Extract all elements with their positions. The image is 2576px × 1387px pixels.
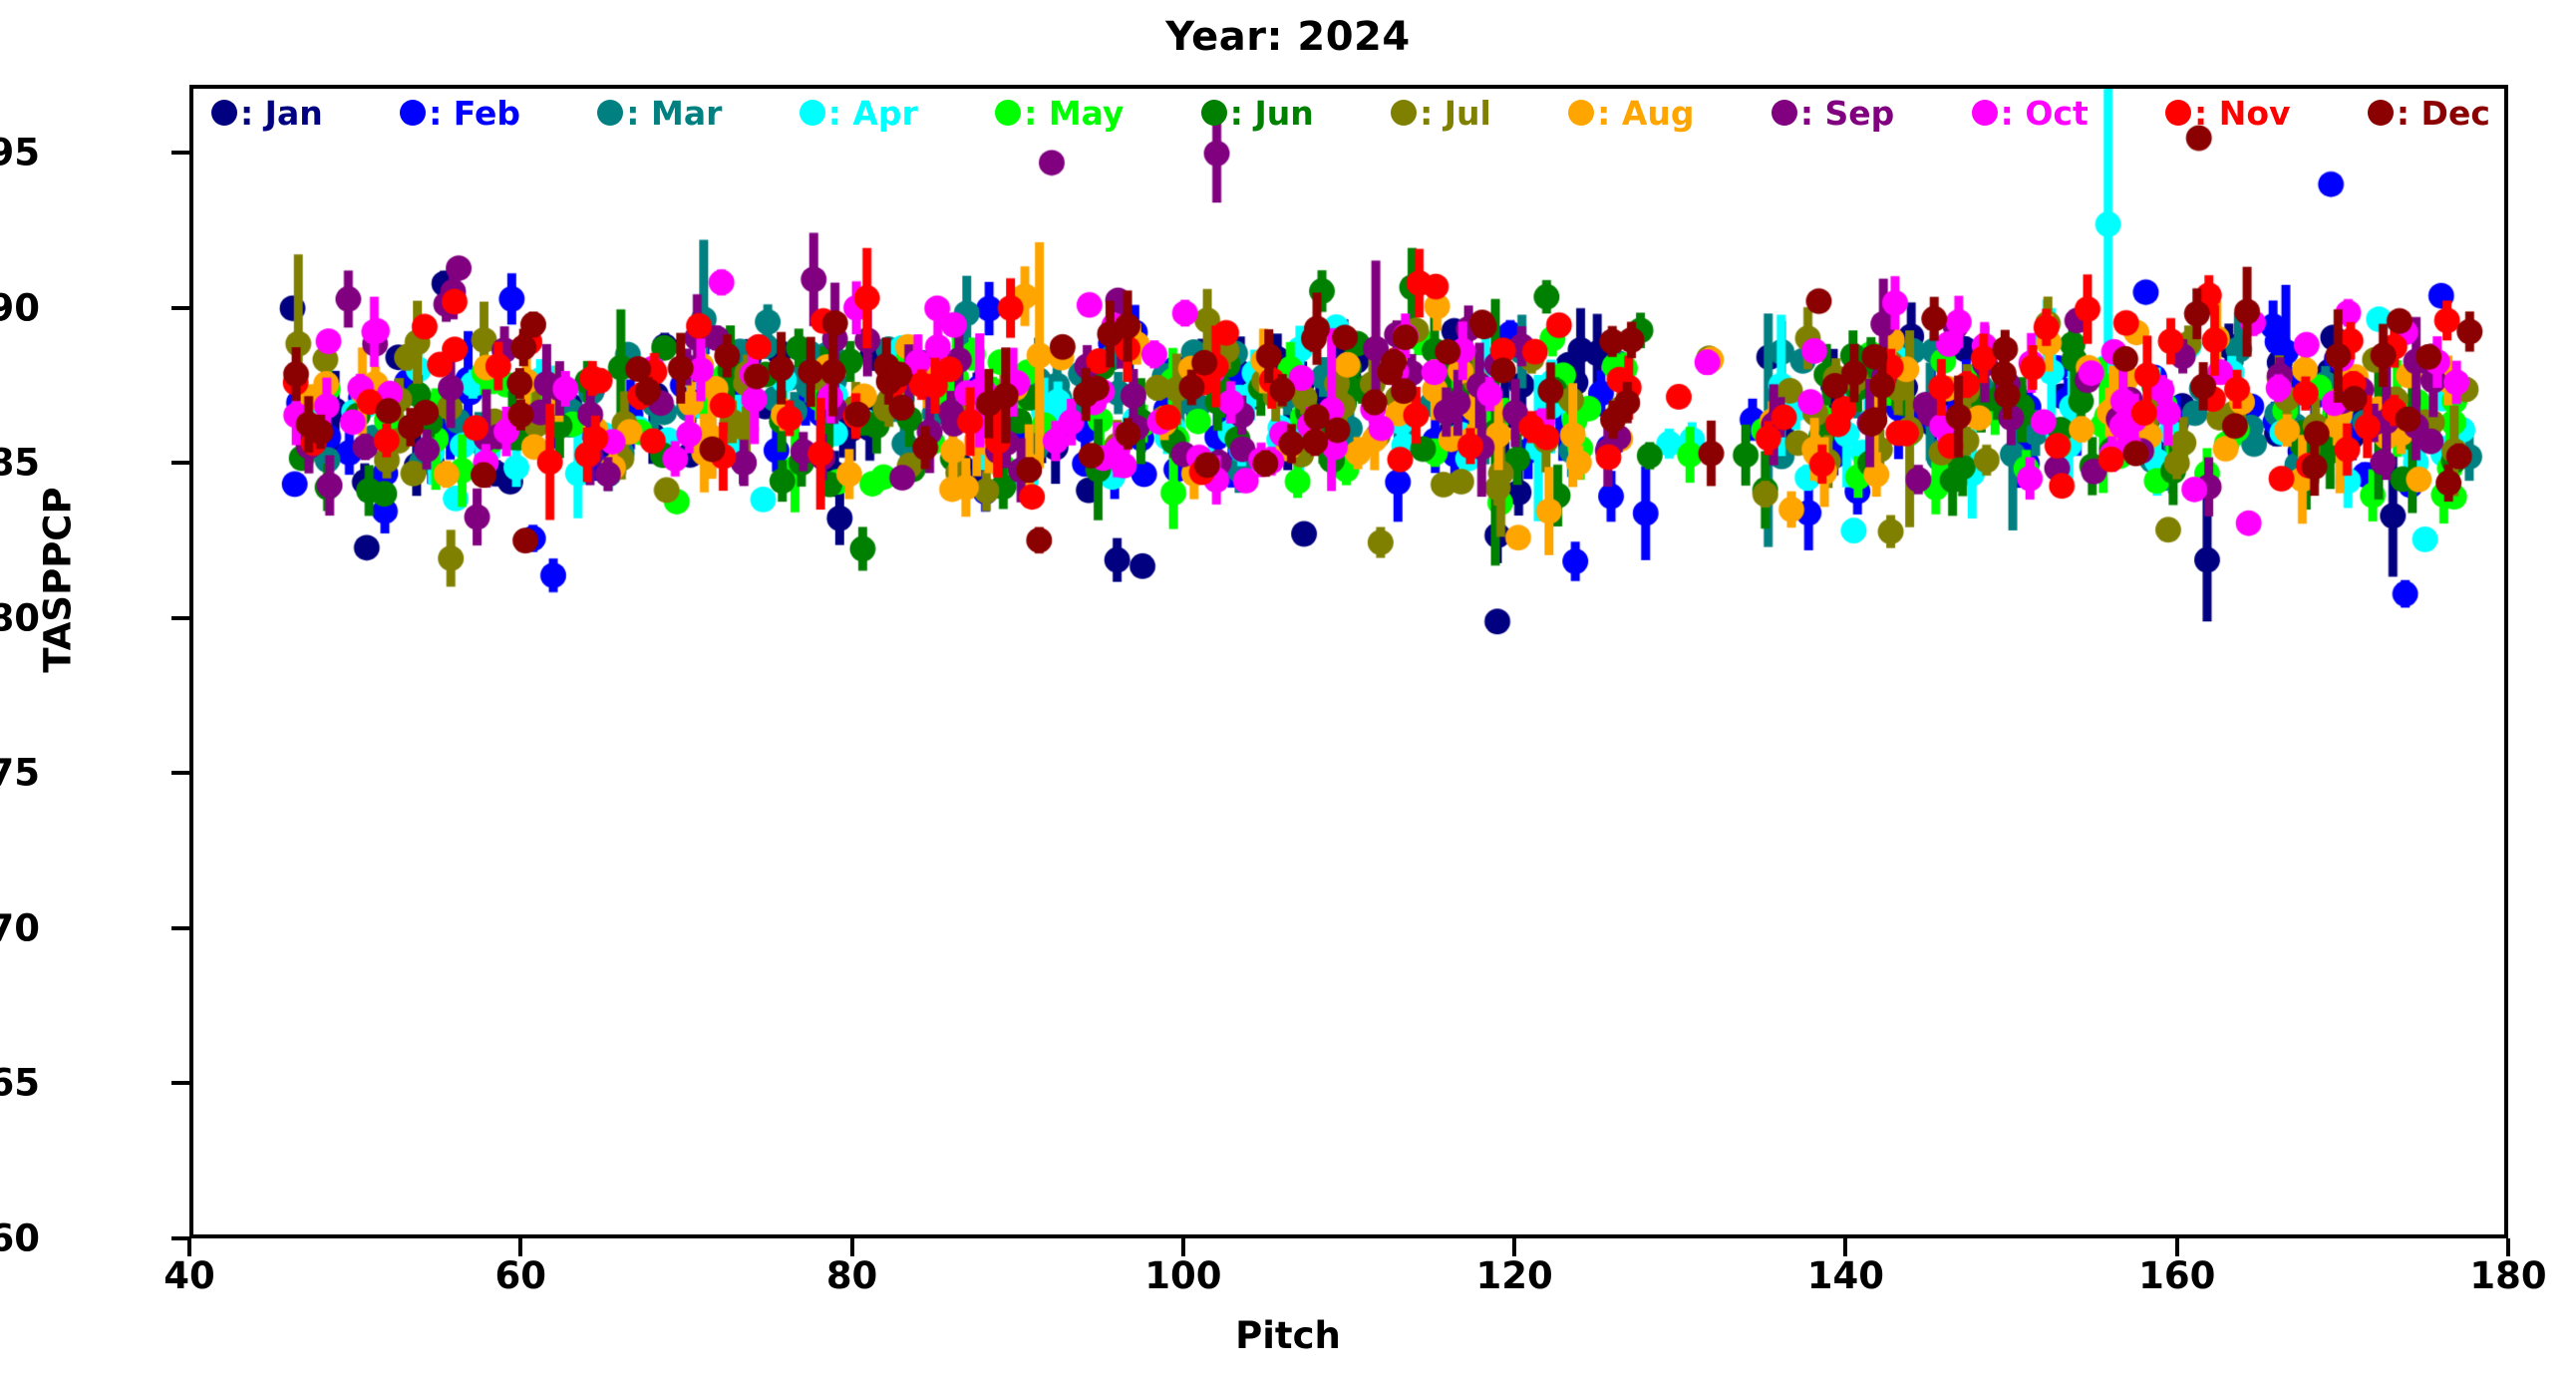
legend-item-label: : Aug bbox=[1597, 97, 1694, 130]
data-points-canvas[interactable] bbox=[193, 89, 2504, 1234]
x-tick-mark bbox=[1843, 1238, 1847, 1256]
legend-marker-icon bbox=[597, 100, 623, 126]
x-tick-label: 160 bbox=[2138, 1254, 2215, 1297]
legend-marker-icon bbox=[1568, 100, 1594, 126]
legend-item-label: : Mar bbox=[626, 97, 722, 130]
x-tick-label: 40 bbox=[163, 1254, 215, 1297]
x-tick-mark bbox=[1181, 1238, 1185, 1256]
x-tick-mark bbox=[518, 1238, 522, 1256]
legend-item-label: : Feb bbox=[429, 97, 520, 130]
legend-marker-icon bbox=[1391, 100, 1417, 126]
x-tick-label: 80 bbox=[826, 1254, 878, 1297]
y-tick-label: 260 bbox=[0, 1217, 40, 1260]
legend-item-jul[interactable]: : Jul bbox=[1391, 97, 1491, 130]
y-tick-label: 265 bbox=[0, 1062, 40, 1105]
legend-item-label: : Jun bbox=[1230, 97, 1314, 130]
y-tick-mark bbox=[171, 771, 189, 775]
page-title: Year: 2024 bbox=[0, 14, 2576, 60]
x-tick-label: 120 bbox=[1476, 1254, 1553, 1297]
legend-item-nov[interactable]: : Nov bbox=[2165, 97, 2291, 130]
legend-item-label: : Jul bbox=[1420, 97, 1491, 130]
legend-marker-icon bbox=[1972, 100, 1998, 126]
x-tick-mark bbox=[187, 1238, 191, 1256]
legend-item-label: : May bbox=[1024, 97, 1124, 130]
x-tick-label: 60 bbox=[495, 1254, 547, 1297]
x-tick-mark bbox=[2506, 1238, 2510, 1256]
y-tick-label: 295 bbox=[0, 132, 40, 174]
legend-marker-icon bbox=[400, 100, 426, 126]
x-tick-mark bbox=[850, 1238, 854, 1256]
legend-item-label: : Apr bbox=[828, 97, 918, 130]
y-tick-label: 280 bbox=[0, 596, 40, 639]
legend-item-jan[interactable]: : Jan bbox=[211, 97, 323, 130]
legend-item-label: : Sep bbox=[1800, 97, 1894, 130]
legend-marker-icon bbox=[1201, 100, 1227, 126]
x-tick-mark bbox=[2175, 1238, 2179, 1256]
legend-item-label: : Dec bbox=[2397, 97, 2490, 130]
y-tick-mark bbox=[171, 151, 189, 155]
y-axis-label: TASPPCP bbox=[37, 401, 80, 760]
chart-figure: Year: 2024 : Jan: Feb: Mar: Apr: May: Ju… bbox=[0, 0, 2576, 1387]
y-tick-label: 275 bbox=[0, 752, 40, 795]
legend-item-feb[interactable]: : Feb bbox=[400, 97, 520, 130]
x-tick-label: 180 bbox=[2469, 1254, 2546, 1297]
legend-item-label: : Oct bbox=[2001, 97, 2089, 130]
legend-item-mar[interactable]: : Mar bbox=[597, 97, 722, 130]
legend-marker-icon bbox=[1771, 100, 1797, 126]
legend-item-sep[interactable]: : Sep bbox=[1771, 97, 1894, 130]
legend-item-dec[interactable]: : Dec bbox=[2368, 97, 2490, 130]
legend-marker-icon bbox=[800, 100, 825, 126]
y-tick-mark bbox=[171, 461, 189, 465]
x-tick-mark bbox=[1512, 1238, 1516, 1256]
y-tick-label: 285 bbox=[0, 442, 40, 485]
y-tick-label: 290 bbox=[0, 286, 40, 329]
legend-marker-icon bbox=[995, 100, 1021, 126]
legend-marker-icon bbox=[211, 100, 237, 126]
x-tick-label: 100 bbox=[1144, 1254, 1221, 1297]
legend-item-label: : Jan bbox=[240, 97, 323, 130]
legend-item-aug[interactable]: : Aug bbox=[1568, 97, 1694, 130]
y-tick-mark bbox=[171, 616, 189, 620]
legend-item-apr[interactable]: : Apr bbox=[800, 97, 918, 130]
y-tick-mark bbox=[171, 1081, 189, 1085]
legend-item-jun[interactable]: : Jun bbox=[1201, 97, 1314, 130]
legend-marker-icon bbox=[2368, 100, 2394, 126]
y-tick-label: 270 bbox=[0, 906, 40, 949]
legend-marker-icon bbox=[2165, 100, 2191, 126]
y-tick-mark bbox=[171, 926, 189, 930]
plot-area[interactable] bbox=[189, 85, 2508, 1238]
legend[interactable]: : Jan: Feb: Mar: Apr: May: Jun: Jul: Aug… bbox=[193, 89, 2504, 137]
legend-item-oct[interactable]: : Oct bbox=[1972, 97, 2089, 130]
x-axis-label: Pitch bbox=[0, 1314, 2576, 1357]
legend-item-label: : Nov bbox=[2194, 97, 2291, 130]
legend-item-may[interactable]: : May bbox=[995, 97, 1124, 130]
y-tick-mark bbox=[171, 306, 189, 310]
x-tick-label: 140 bbox=[1807, 1254, 1884, 1297]
